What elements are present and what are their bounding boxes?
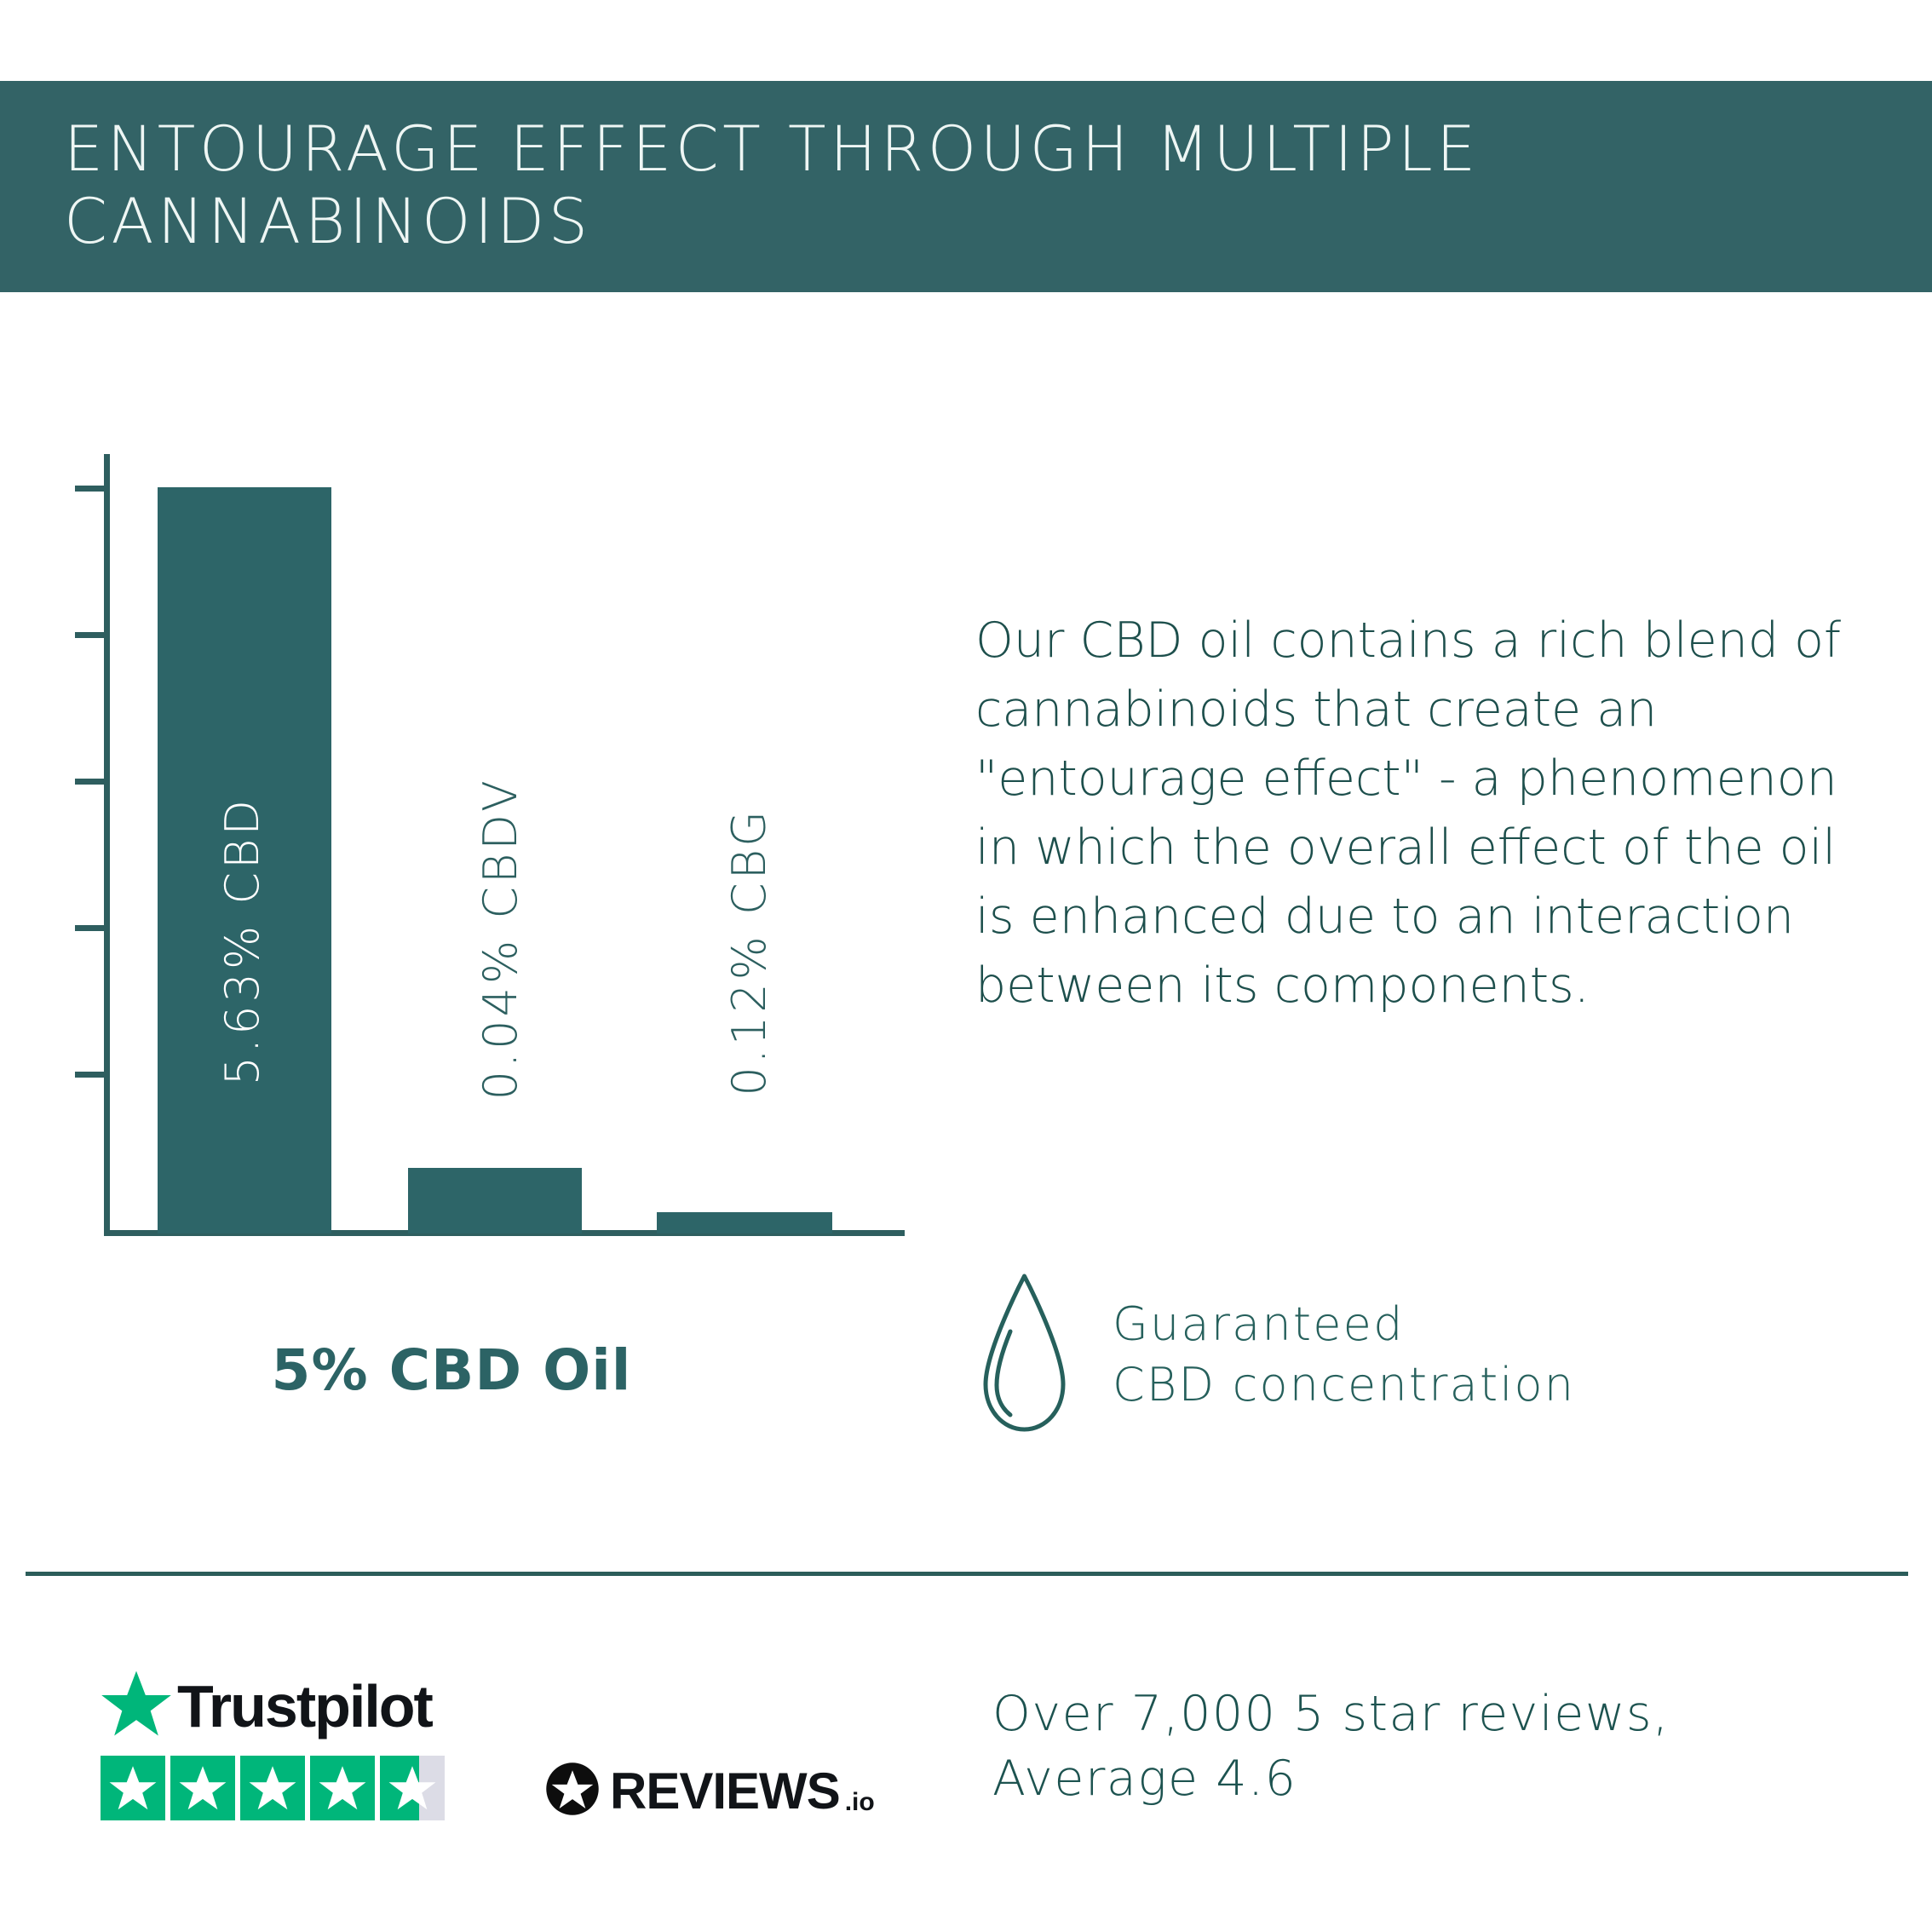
- trustpilot-star-2: [170, 1756, 235, 1820]
- bar-label-cbg: 0.12% CBG: [722, 808, 776, 1096]
- trustpilot-wordmark: Trustpilot: [177, 1676, 432, 1736]
- y-axis-tick: [75, 1072, 109, 1078]
- guarantee-row: Guaranteed CBD concentration: [975, 1269, 1887, 1440]
- trustpilot-star-rating: [101, 1756, 467, 1820]
- bar-cbdv: [408, 1168, 582, 1233]
- trustpilot-star-3: [240, 1756, 305, 1820]
- trustpilot-star-4: [310, 1756, 375, 1820]
- reviewsio-wordmark: REVIEWS: [610, 1766, 840, 1817]
- body-paragraph: Our CBD oil contains a rich blend of can…: [975, 607, 1887, 1021]
- y-axis-tick: [75, 925, 109, 931]
- trustpilot-header: Trustpilot: [101, 1670, 467, 1742]
- bar-cbg: [657, 1212, 832, 1233]
- cannabinoid-bar-chart: 5.63% CBD 0.04% CBDV 0.12% CBG 5% CBD Oi…: [0, 0, 963, 1329]
- y-axis-tick: [75, 779, 109, 785]
- guarantee-label: Guaranteed CBD concentration: [1113, 1294, 1575, 1416]
- chart-caption: 5% CBD Oil: [0, 1337, 903, 1403]
- chart-y-axis: [104, 454, 110, 1236]
- y-axis-tick: [75, 486, 109, 492]
- reviewsio-tld: .io: [845, 1790, 875, 1820]
- reviewsio-star-badge-icon: [545, 1762, 600, 1820]
- reviews-summary: Over 7,000 5 star reviews, Average 4.6: [992, 1682, 1895, 1812]
- reviewsio-badge[interactable]: REVIEWS .io: [545, 1762, 875, 1820]
- footer: Trustpilot: [0, 1610, 1932, 1932]
- infographic-page: Entourage effect through multiple cannab…: [0, 0, 1932, 1932]
- y-axis-tick: [75, 632, 109, 638]
- oil-droplet-icon: [975, 1269, 1073, 1440]
- footer-divider: [26, 1572, 1908, 1576]
- trustpilot-star-1: [101, 1756, 165, 1820]
- trustpilot-star-icon: [101, 1670, 172, 1742]
- bar-label-cbd: 5.63% CBD: [216, 796, 269, 1085]
- trustpilot-badge[interactable]: Trustpilot: [101, 1670, 467, 1820]
- bar-label-cbdv: 0.04% CBDV: [474, 777, 527, 1100]
- trustpilot-star-5-partial: [380, 1756, 445, 1820]
